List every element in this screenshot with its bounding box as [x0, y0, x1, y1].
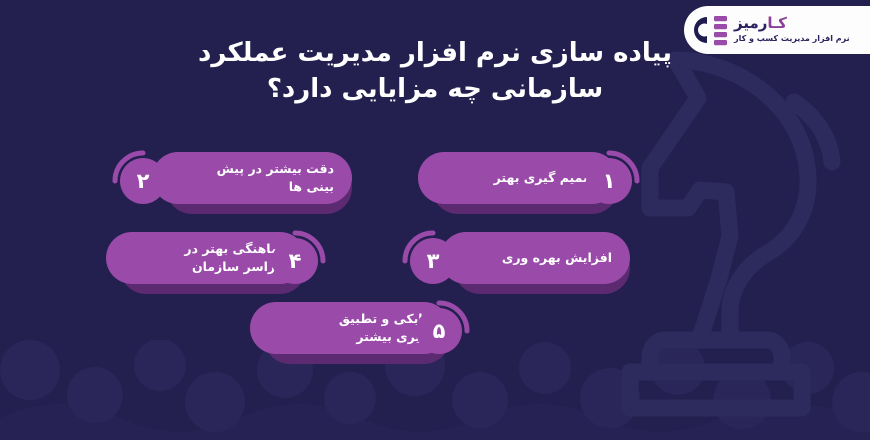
benefit-item-4-number: ۴: [272, 238, 318, 284]
benefit-item-5-number: ۵: [416, 308, 462, 354]
benefit-item-3-pill: افزایش بهره وری: [440, 232, 630, 284]
benefit-item-3[interactable]: افزایش بهره وری ۳: [440, 232, 630, 290]
benefit-item-2-number: ۲: [120, 158, 166, 204]
page-title-line-1: پیاده سازی نرم افزار مدیریت عملکرد: [0, 36, 870, 72]
benefit-item-2-pill: دقت بیشتر در پیش بینی ها: [152, 152, 352, 204]
benefit-item-4[interactable]: هماهنگی بهتر در سراسر سازمان ۴: [106, 232, 306, 290]
benefit-item-2-label: دقت بیشتر در پیش بینی ها: [202, 160, 334, 196]
benefit-item-1[interactable]: تصمیم گیری بهتر ۱: [418, 152, 618, 210]
brand-name: کـارمیز: [734, 16, 787, 32]
page-title-line-2: سازمانی چه مزایایی دارد؟: [0, 72, 870, 108]
infographic-canvas: کـارمیز نرم افزار مدیریت کسب و کار پیاده…: [0, 0, 870, 440]
benefit-item-3-label: افزایش بهره وری: [490, 249, 612, 267]
benefit-item-1-number: ۱: [586, 158, 632, 204]
benefit-item-2[interactable]: دقت بیشتر در پیش بینی ها ۲: [152, 152, 352, 210]
brand-name-suffix: رمیز: [734, 14, 767, 32]
benefit-item-3-number: ۳: [410, 238, 456, 284]
brand-name-prefix: کـا: [767, 14, 786, 32]
benefit-item-5[interactable]: چابکی و تطبیق پذیری بیشتر ۵: [250, 302, 450, 360]
page-title: پیاده سازی نرم افزار مدیریت عملکرد سازما…: [0, 36, 870, 108]
